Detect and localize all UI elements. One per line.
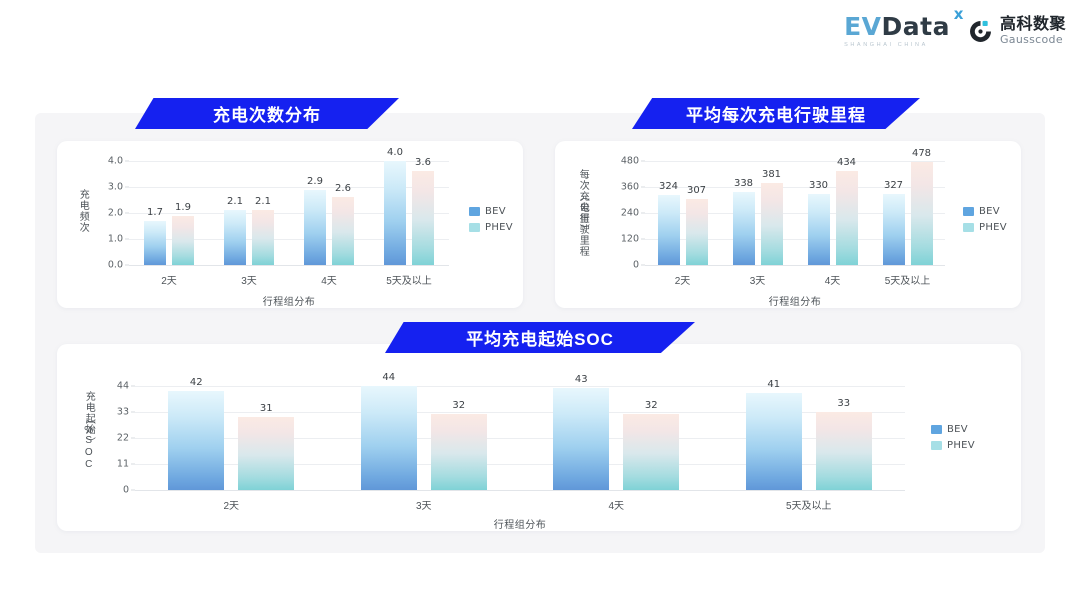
bar-group: 41 33 5天及以上: [713, 386, 906, 490]
y-tick-label: 360: [621, 182, 639, 193]
evdata-data-text: Data: [882, 12, 950, 41]
bar-value-label: 4.0: [387, 147, 403, 158]
x-category-label: 5天及以上: [870, 272, 945, 287]
y-tick-label: 0: [633, 260, 639, 271]
y-tick-label: 0.0: [108, 260, 123, 271]
x-axis-label-charging-frequency: 行程组分布: [129, 293, 449, 308]
bar-value-label: 41: [767, 379, 780, 390]
bar-phev[interactable]: 1.9: [172, 216, 194, 265]
bar-bev[interactable]: 2.9: [304, 190, 326, 265]
gausscode-text: 高科数聚 Gausscode: [1000, 17, 1066, 45]
bar-group: 43 32 4天: [520, 386, 713, 490]
bar-value-label: 33: [837, 398, 850, 409]
bar-phev[interactable]: 2.6: [332, 197, 354, 265]
y-axis-label-charging-frequency: 充电频次: [76, 189, 89, 233]
bar-value-label: 2.9: [307, 176, 323, 187]
legend-label-phev: PHEV: [979, 222, 1007, 233]
legend-label-bev: BEV: [485, 206, 506, 217]
y-tick-label: 480: [621, 156, 639, 167]
chart-avg-start-soc: 充电起始SOC （%） 44 33 22 11 0: [57, 344, 1021, 531]
legend-label-phev: PHEV: [485, 222, 513, 233]
x-category-label: 4天: [520, 497, 713, 512]
x-category-label: 3天: [209, 272, 289, 287]
y-tick-label: 0: [123, 485, 129, 496]
plot-area-avg-mileage: 480 360 240 120 0 324: [645, 161, 945, 265]
bar-phev[interactable]: 32: [431, 414, 487, 490]
x-category-label: 4天: [289, 272, 369, 287]
evdata-subtitle: SHANGHAI CHINA: [844, 42, 928, 48]
y-tick-label: 11: [117, 459, 129, 470]
y-axis-unit-avg-start-soc: （%）: [82, 414, 95, 448]
y-tick-label: 33: [117, 407, 129, 418]
x-category-label: 2天: [129, 272, 209, 287]
legend-charging-frequency: BEV PHEV: [469, 206, 513, 233]
bar-phev[interactable]: 3.6: [412, 171, 434, 265]
bar-value-label: 31: [260, 403, 273, 414]
bar-group: 330 434 4天: [795, 161, 870, 265]
bar-group: 327 478 5天及以上: [870, 161, 945, 265]
y-tick-label: 22: [117, 433, 129, 444]
bar-phev[interactable]: 381: [761, 183, 783, 266]
y-tick-label: 44: [117, 381, 129, 392]
bar-group: 42 31 2天: [135, 386, 328, 490]
legend-swatch-phev-icon: [963, 223, 974, 232]
chart-card-avg-start-soc: 充电起始SOC （%） 44 33 22 11 0: [57, 344, 1021, 531]
bar-bev[interactable]: 2.1: [224, 210, 246, 265]
bar-group: 44 32 3天: [328, 386, 521, 490]
chart-banner-charging-frequency: 充电次数分布: [135, 98, 399, 129]
bar-value-label: 2.6: [335, 183, 351, 194]
bar-value-label: 1.9: [175, 202, 191, 213]
bar-value-label: 3.6: [415, 157, 431, 168]
bar-bev[interactable]: 338: [733, 192, 755, 265]
chart-avg-mileage: 每次充电行驶里程 （公里） 480 360 240 120 0: [555, 141, 1021, 308]
bar-group: 2.1 2.1 3天: [209, 161, 289, 265]
legend-item-bev[interactable]: BEV: [963, 206, 1007, 217]
plot-area-charging-frequency: 4.0 3.0 2.0 1.0 0.0 1.7: [129, 161, 449, 265]
x-category-label: 2天: [645, 272, 720, 287]
gausscode-cn-name: 高科数聚: [1000, 17, 1066, 34]
legend-label-bev: BEV: [979, 206, 1000, 217]
chart-banner-avg-start-soc: 平均充电起始SOC: [385, 322, 695, 353]
bar-groups-avg-mileage: 324 307 2天 338: [645, 161, 945, 265]
bar-bev[interactable]: 330: [808, 194, 830, 266]
bar-value-label: 32: [452, 400, 465, 411]
legend-swatch-bev-icon: [931, 425, 942, 434]
legend-item-phev[interactable]: PHEV: [963, 222, 1007, 233]
bar-value-label: 330: [809, 180, 828, 191]
bar-phev[interactable]: 33: [816, 412, 872, 490]
bar-phev[interactable]: 2.1: [252, 210, 274, 265]
chart-charging-frequency: 充电频次 4.0 3.0 2.0 1.0 0.0: [57, 141, 523, 308]
bar-group: 1.7 1.9 2天: [129, 161, 209, 265]
header-logos: EVDatax SHANGHAI CHINA 高科数聚 Gausscode: [844, 14, 1066, 48]
bar-value-label: 327: [884, 180, 903, 191]
y-tick-label: 240: [621, 208, 639, 219]
legend-item-phev[interactable]: PHEV: [469, 222, 513, 233]
chart-banner-avg-mileage: 平均每次充电行驶里程: [632, 98, 920, 129]
bar-value-label: 2.1: [255, 196, 271, 207]
x-category-label: 5天及以上: [369, 272, 449, 287]
bar-value-label: 42: [190, 377, 203, 388]
bar-bev[interactable]: 44: [361, 386, 417, 490]
bar-value-label: 434: [837, 157, 856, 168]
bar-phev[interactable]: 307: [686, 199, 708, 266]
bar-phev[interactable]: 478: [911, 162, 933, 266]
evdata-x-icon: x: [954, 7, 964, 22]
bar-value-label: 1.7: [147, 207, 163, 218]
chart-card-avg-mileage: 每次充电行驶里程 （公里） 480 360 240 120 0: [555, 141, 1021, 308]
y-tick-label: 120: [621, 234, 639, 245]
legend-avg-mileage: BEV PHEV: [963, 206, 1007, 233]
bar-value-label: 32: [645, 400, 658, 411]
y-tick-label: 3.0: [108, 182, 123, 193]
legend-swatch-phev-icon: [931, 441, 942, 450]
bar-value-label: 381: [762, 169, 781, 180]
slide-root: EVDatax SHANGHAI CHINA 高科数聚 Gausscode 充电…: [0, 0, 1080, 608]
x-category-label: 5天及以上: [713, 497, 906, 512]
gausscode-en-name: Gausscode: [1000, 34, 1066, 46]
bar-bev[interactable]: 43: [553, 388, 609, 490]
bar-bev[interactable]: 324: [658, 195, 680, 265]
bar-value-label: 43: [575, 374, 588, 385]
evdata-ev-text: EV: [844, 12, 881, 41]
gausscode-mark-icon: [968, 19, 993, 44]
legend-item-bev[interactable]: BEV: [931, 424, 975, 435]
x-axis-label-avg-start-soc: 行程组分布: [135, 516, 905, 531]
bar-value-label: 307: [687, 185, 706, 196]
legend-item-phev[interactable]: PHEV: [931, 440, 975, 451]
x-category-label: 3天: [720, 272, 795, 287]
plot-area-avg-start-soc: 44 33 22 11 0 42: [135, 386, 905, 490]
legend-label-phev: PHEV: [947, 440, 975, 451]
bar-bev[interactable]: 41: [746, 393, 802, 490]
legend-swatch-bev-icon: [963, 207, 974, 216]
bar-value-label: 338: [734, 178, 753, 189]
bar-group: 324 307 2天: [645, 161, 720, 265]
x-category-label: 2天: [135, 497, 328, 512]
bar-group: 4.0 3.6 5天及以上: [369, 161, 449, 265]
legend-swatch-phev-icon: [469, 223, 480, 232]
bar-bev[interactable]: 327: [883, 194, 905, 265]
evdata-logo: EVDatax SHANGHAI CHINA: [844, 14, 950, 48]
evdata-wordmark: EVDatax: [844, 14, 950, 39]
bar-groups-avg-start-soc: 42 31 2天 44: [135, 386, 905, 490]
bar-groups-charging-frequency: 1.7 1.9 2天 2.1: [129, 161, 449, 265]
bar-bev[interactable]: 1.7: [144, 221, 166, 265]
bar-value-label: 324: [659, 181, 678, 192]
y-tick-label: 4.0: [108, 156, 123, 167]
bar-value-label: 44: [382, 372, 395, 383]
gausscode-logo: 高科数聚 Gausscode: [968, 17, 1066, 45]
x-axis-label-avg-mileage: 行程组分布: [645, 293, 945, 308]
y-tick-label: 1.0: [108, 234, 123, 245]
bar-bev[interactable]: 4.0: [384, 161, 406, 265]
y-axis-unit-avg-mileage: （公里）: [576, 191, 589, 235]
bar-phev[interactable]: 32: [623, 414, 679, 490]
bar-value-label: 478: [912, 148, 931, 159]
x-category-label: 3天: [328, 497, 521, 512]
bar-phev[interactable]: 31: [238, 417, 294, 490]
chart-card-charging-frequency: 充电频次 4.0 3.0 2.0 1.0 0.0: [57, 141, 523, 308]
bar-group: 338 381 3天: [720, 161, 795, 265]
y-tick-label: 2.0: [108, 208, 123, 219]
bar-bev[interactable]: 42: [168, 391, 224, 490]
bar-group: 2.9 2.6 4天: [289, 161, 369, 265]
x-category-label: 4天: [795, 272, 870, 287]
bar-phev[interactable]: 434: [836, 171, 858, 265]
bar-value-label: 2.1: [227, 196, 243, 207]
legend-swatch-bev-icon: [469, 207, 480, 216]
legend-avg-start-soc: BEV PHEV: [931, 424, 975, 451]
legend-item-bev[interactable]: BEV: [469, 206, 513, 217]
legend-label-bev: BEV: [947, 424, 968, 435]
